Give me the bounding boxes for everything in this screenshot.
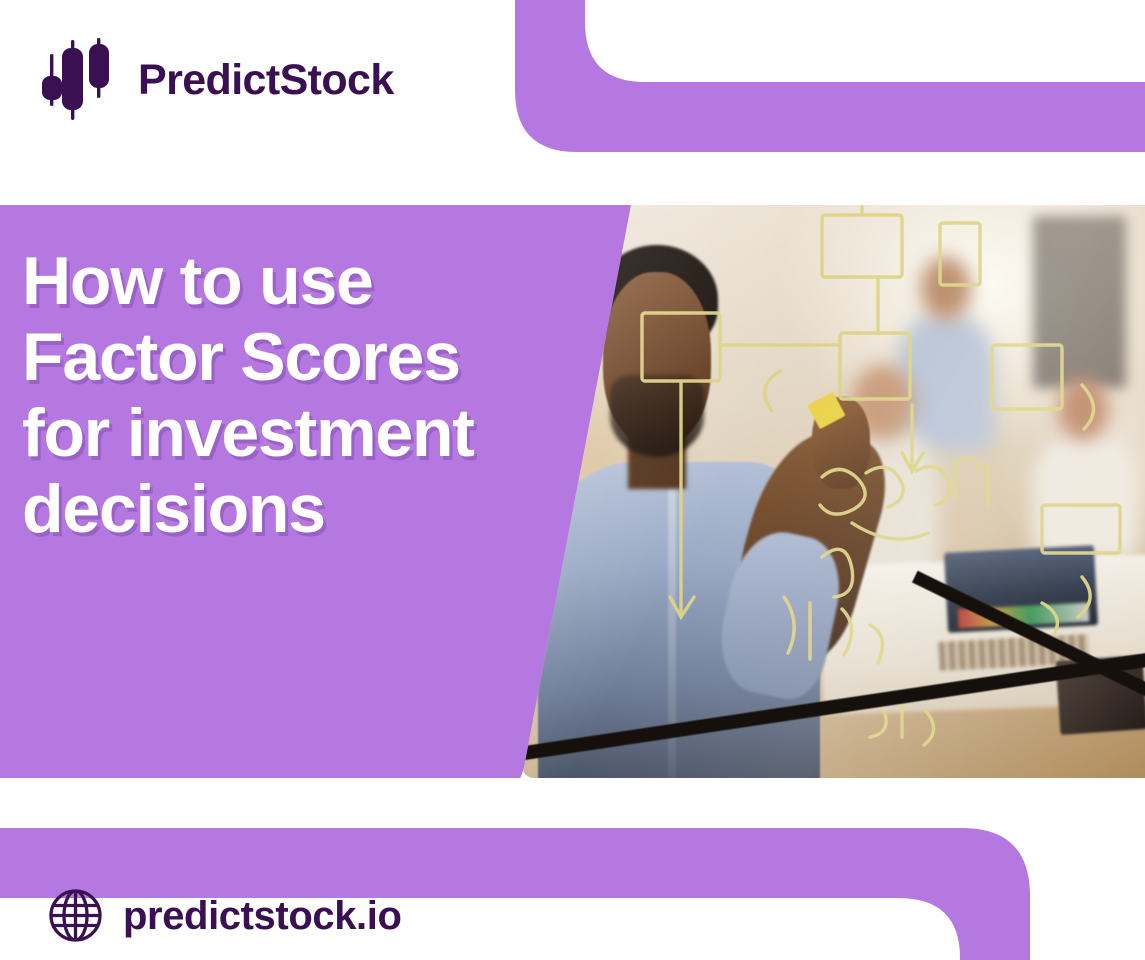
headline-line-2: Factor Scores	[22, 319, 642, 395]
website-url-text: predictstock.io	[123, 896, 402, 936]
top-corner-bracket-decoration	[515, 0, 1145, 152]
footer-website-link[interactable]: predictstock.io	[48, 888, 402, 943]
hero-photo-image	[522, 205, 1145, 778]
headline-line-1: How to use	[22, 243, 642, 319]
headline-line-4: decisions	[22, 471, 642, 547]
brand-name: PredictStock	[138, 59, 394, 102]
page-title: How to use Factor Scores for investment …	[22, 243, 642, 548]
headline-line-3: for investment	[22, 395, 642, 471]
social-post-canvas: PredictStock How to use Factor Scores fo…	[0, 0, 1145, 960]
brand-logo[interactable]: PredictStock	[38, 38, 394, 122]
candlestick-chart-icon	[38, 38, 116, 122]
globe-icon	[48, 888, 103, 943]
hero-photo	[522, 205, 1145, 778]
